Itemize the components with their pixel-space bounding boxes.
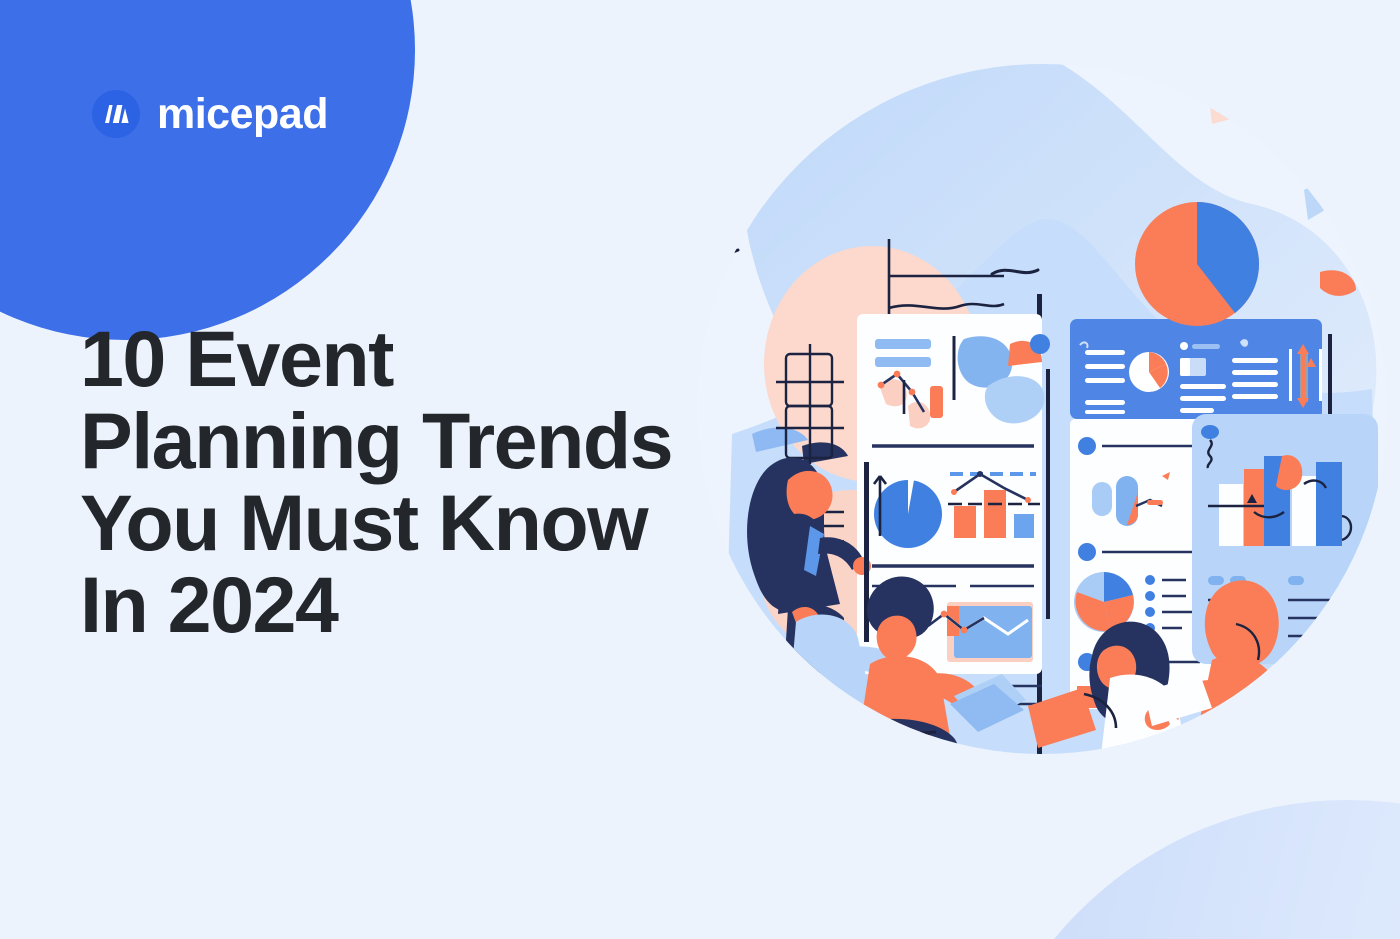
- board-pole-center: [1046, 369, 1050, 619]
- panel-small-pie: [1129, 352, 1169, 392]
- woman-legs: [1092, 748, 1198, 814]
- front-figure-pants: [854, 719, 961, 814]
- far-figure-face: [1223, 612, 1258, 650]
- chair-leg-1: [868, 736, 870, 800]
- peach-accent-triangle: [1206, 66, 1308, 124]
- chair-seat: [864, 732, 936, 738]
- brand-badge-shape: [0, 0, 415, 340]
- front-figure-shoe: [926, 800, 976, 814]
- report-card-pie-chart: [874, 480, 942, 548]
- woman-chair-leg-1: [1092, 758, 1094, 814]
- illustration-scene: [692, 26, 1392, 814]
- hero-illustration: [692, 14, 1392, 814]
- hero-banner: micepad 10 Event Planning Trends You Mus…: [0, 0, 1400, 939]
- floating-pie-chart: [1135, 202, 1259, 326]
- background-blob-bottom-right: [968, 800, 1400, 939]
- squiggle-2: [692, 250, 738, 254]
- far-figure-pants: [1178, 722, 1264, 798]
- list-bullet-1: [1078, 437, 1096, 455]
- blue-dashboard-panel: [1070, 319, 1322, 419]
- blue-accent-top-left: [728, 59, 842, 128]
- brand-logo[interactable]: micepad: [92, 90, 328, 138]
- woman-chair-seat: [1088, 756, 1168, 762]
- brand-wordmark: micepad: [157, 93, 328, 136]
- woman-chair-leg-2: [1160, 756, 1164, 810]
- list-bullet-2: [1078, 543, 1096, 561]
- card-title-bar-2: [875, 357, 931, 367]
- pants-seam: [878, 735, 946, 754]
- page-title: 10 Event Planning Trends You Must Know I…: [80, 318, 720, 647]
- woman-shoe: [1036, 796, 1082, 814]
- card-title-bar-1: [875, 339, 931, 349]
- chair-leg-2: [928, 734, 934, 796]
- micepad-m-mark-icon: [92, 90, 140, 138]
